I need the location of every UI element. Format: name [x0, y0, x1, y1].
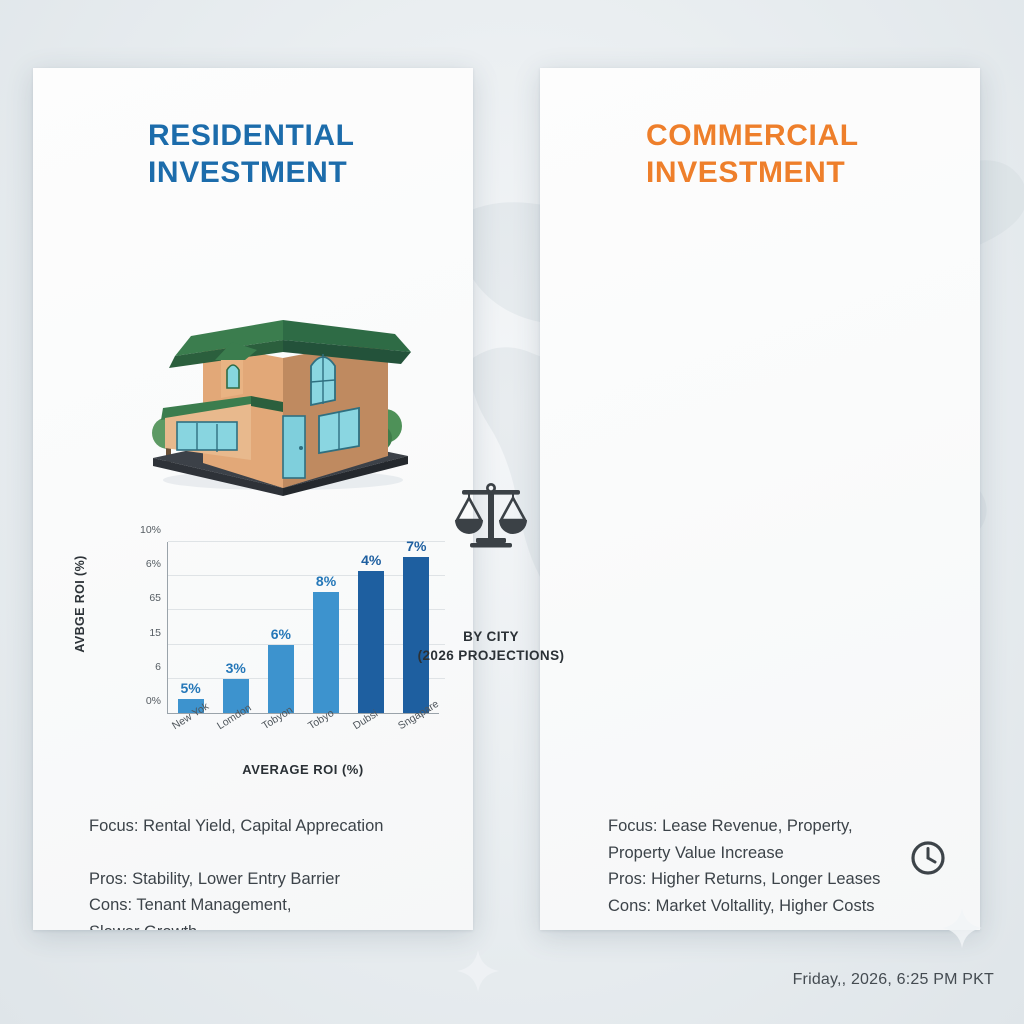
- residential-chart-bars: 5%3%6%8%4%7%: [168, 542, 439, 713]
- commercial-title: COMMERCIAL INVESTMENT: [646, 118, 859, 191]
- residential-roi-chart: AVBGE ROI (%) 10%6%651560%5%3%6%8%4%7% N…: [121, 534, 451, 779]
- house-illustration: [133, 298, 423, 498]
- clock-icon: [908, 838, 948, 878]
- residential-chart-bar-group: 8%: [313, 542, 339, 713]
- residential-chart-bar[interactable]: [268, 645, 294, 713]
- commercial-panel: COMMERCIAL INVESTMENT: [540, 68, 980, 930]
- commercial-cons: Cons: Market Voltallity, Higher Costs: [608, 893, 958, 920]
- residential-chart-bar[interactable]: [313, 592, 339, 713]
- residential-chart-ytick: 6: [155, 661, 161, 673]
- sparkle-icon: [455, 948, 501, 994]
- residential-copy: Focus: Rental Yield, Capital Apprecation…: [89, 813, 449, 930]
- residential-chart-bar-group: 6%: [268, 542, 294, 713]
- residential-chart-bar-label: 4%: [361, 552, 381, 568]
- residential-title-line1: RESIDENTIAL: [148, 119, 355, 152]
- residential-title: RESIDENTIAL INVESTMENT: [148, 118, 355, 191]
- commercial-title-line2: INVESTMENT: [646, 155, 859, 192]
- commercial-focus-line2: Property Value Increase: [608, 840, 958, 867]
- commercial-copy: Focus: Lease Revenue, Property, Property…: [608, 813, 958, 920]
- infographic-canvas: RESIDENTIAL INVESTMENT: [0, 0, 1024, 1024]
- residential-chart-ytick: 65: [149, 592, 161, 604]
- residential-chart-bar-label: 7%: [406, 538, 426, 554]
- residential-chart-bar-group: 5%: [178, 542, 204, 713]
- residential-chart-ytick: 15: [149, 627, 161, 639]
- residential-chart-ytick: 10%: [140, 524, 161, 536]
- commercial-focus-line1: Focus: Lease Revenue, Property,: [608, 813, 958, 840]
- residential-cons-line1: Cons: Tenant Management,: [89, 892, 449, 919]
- residential-panel: RESIDENTIAL INVESTMENT: [33, 68, 473, 930]
- residential-focus: Focus: Rental Yield, Capital Apprecation: [89, 813, 449, 840]
- residential-chart-bar[interactable]: [358, 571, 384, 713]
- commercial-pros: Pros: Higher Returns, Longer Leases: [608, 866, 958, 893]
- residential-chart-ytick: 6%: [146, 558, 161, 570]
- residential-chart-bar-group: 3%: [223, 542, 249, 713]
- residential-chart-xlabel: AVERAGE ROI (%): [167, 762, 439, 777]
- residential-chart-bar-label: 5%: [180, 680, 200, 696]
- residential-chart-ylabel: AVBGE ROI (%): [73, 544, 87, 664]
- residential-chart-bar[interactable]: [403, 557, 429, 713]
- residential-chart-xticks: New YokLomdonTobyonTobyoDubsiSngapare: [167, 716, 439, 762]
- residential-chart-bar-group: 4%: [358, 542, 384, 713]
- residential-chart-bar-label: 3%: [226, 660, 246, 676]
- residential-pros: Pros: Stability, Lower Entry Barrier: [89, 866, 449, 893]
- residential-title-line2: INVESTMENT: [148, 155, 355, 192]
- residential-chart-bar-label: 8%: [316, 573, 336, 589]
- residential-chart-ytick: 0%: [146, 695, 161, 707]
- residential-chart-bar-label: 6%: [271, 626, 291, 642]
- residential-chart-bar-group: 7%: [403, 542, 429, 713]
- residential-chart-plot: 10%6%651560%5%3%6%8%4%7%: [167, 542, 439, 714]
- footer-timestamp: Friday,, 2026, 6:25 PM PKT: [793, 971, 994, 989]
- commercial-title-line1: COMMERCIAL: [646, 119, 859, 152]
- residential-cons-line2: Slower Growth: [89, 919, 449, 930]
